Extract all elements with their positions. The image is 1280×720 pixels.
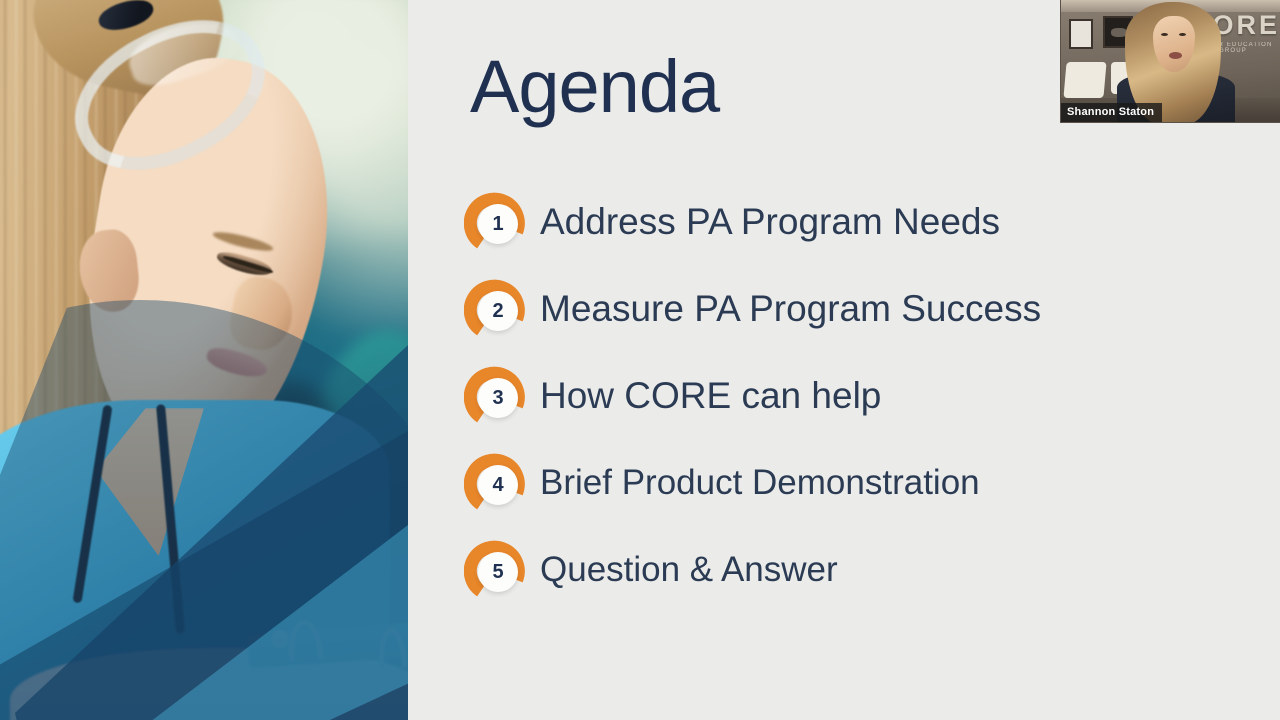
step-number-disc: 3 xyxy=(478,378,518,418)
participant-name-label: Shannon Staton xyxy=(1061,103,1162,122)
step-number-disc: 2 xyxy=(478,291,518,331)
page-title: Agenda xyxy=(470,50,719,124)
agenda-item-label: Brief Product Demonstration xyxy=(540,463,980,503)
agenda-item-label: How CORE can help xyxy=(540,375,881,417)
list-item: 5 Question & Answer xyxy=(464,526,1264,613)
wall-art-frame xyxy=(1069,19,1093,49)
agenda-item-label: Address PA Program Needs xyxy=(540,201,1000,243)
step-number: 4 xyxy=(492,475,503,495)
step-number: 1 xyxy=(492,214,503,234)
step-number: 3 xyxy=(492,388,503,408)
step-number-disc: 5 xyxy=(478,552,518,592)
agenda-item-label: Question & Answer xyxy=(540,550,838,590)
list-item: 3 How CORE can help xyxy=(464,352,1264,439)
list-item: 2 Measure PA Program Success xyxy=(464,265,1264,352)
list-item: 1 Address PA Program Needs xyxy=(464,178,1264,265)
participant-eye xyxy=(1161,33,1168,36)
list-item: 4 Brief Product Demonstration xyxy=(464,439,1264,526)
step-badge-1: 1 xyxy=(464,191,526,253)
step-number: 5 xyxy=(492,562,503,582)
participant-eye xyxy=(1179,33,1186,36)
participant-video-tile[interactable]: CORE HIGHER EDUCATION GROUP Shannon Stat… xyxy=(1060,0,1280,123)
lobby-chair xyxy=(1063,62,1106,98)
presentation-screen: Agenda 1 Address PA Program Needs xyxy=(0,0,1280,720)
step-number: 2 xyxy=(492,301,503,321)
step-badge-3: 3 xyxy=(464,365,526,427)
slide-photo xyxy=(0,0,408,720)
step-number-disc: 1 xyxy=(478,204,518,244)
agenda-item-label: Measure PA Program Success xyxy=(540,288,1041,330)
step-badge-5: 5 xyxy=(464,539,526,601)
agenda-list: 1 Address PA Program Needs 2 Measure PA … xyxy=(464,178,1264,613)
participant-mouth xyxy=(1169,52,1182,59)
step-badge-4: 4 xyxy=(464,452,526,514)
step-number-disc: 4 xyxy=(478,465,518,505)
step-badge-2: 2 xyxy=(464,278,526,340)
